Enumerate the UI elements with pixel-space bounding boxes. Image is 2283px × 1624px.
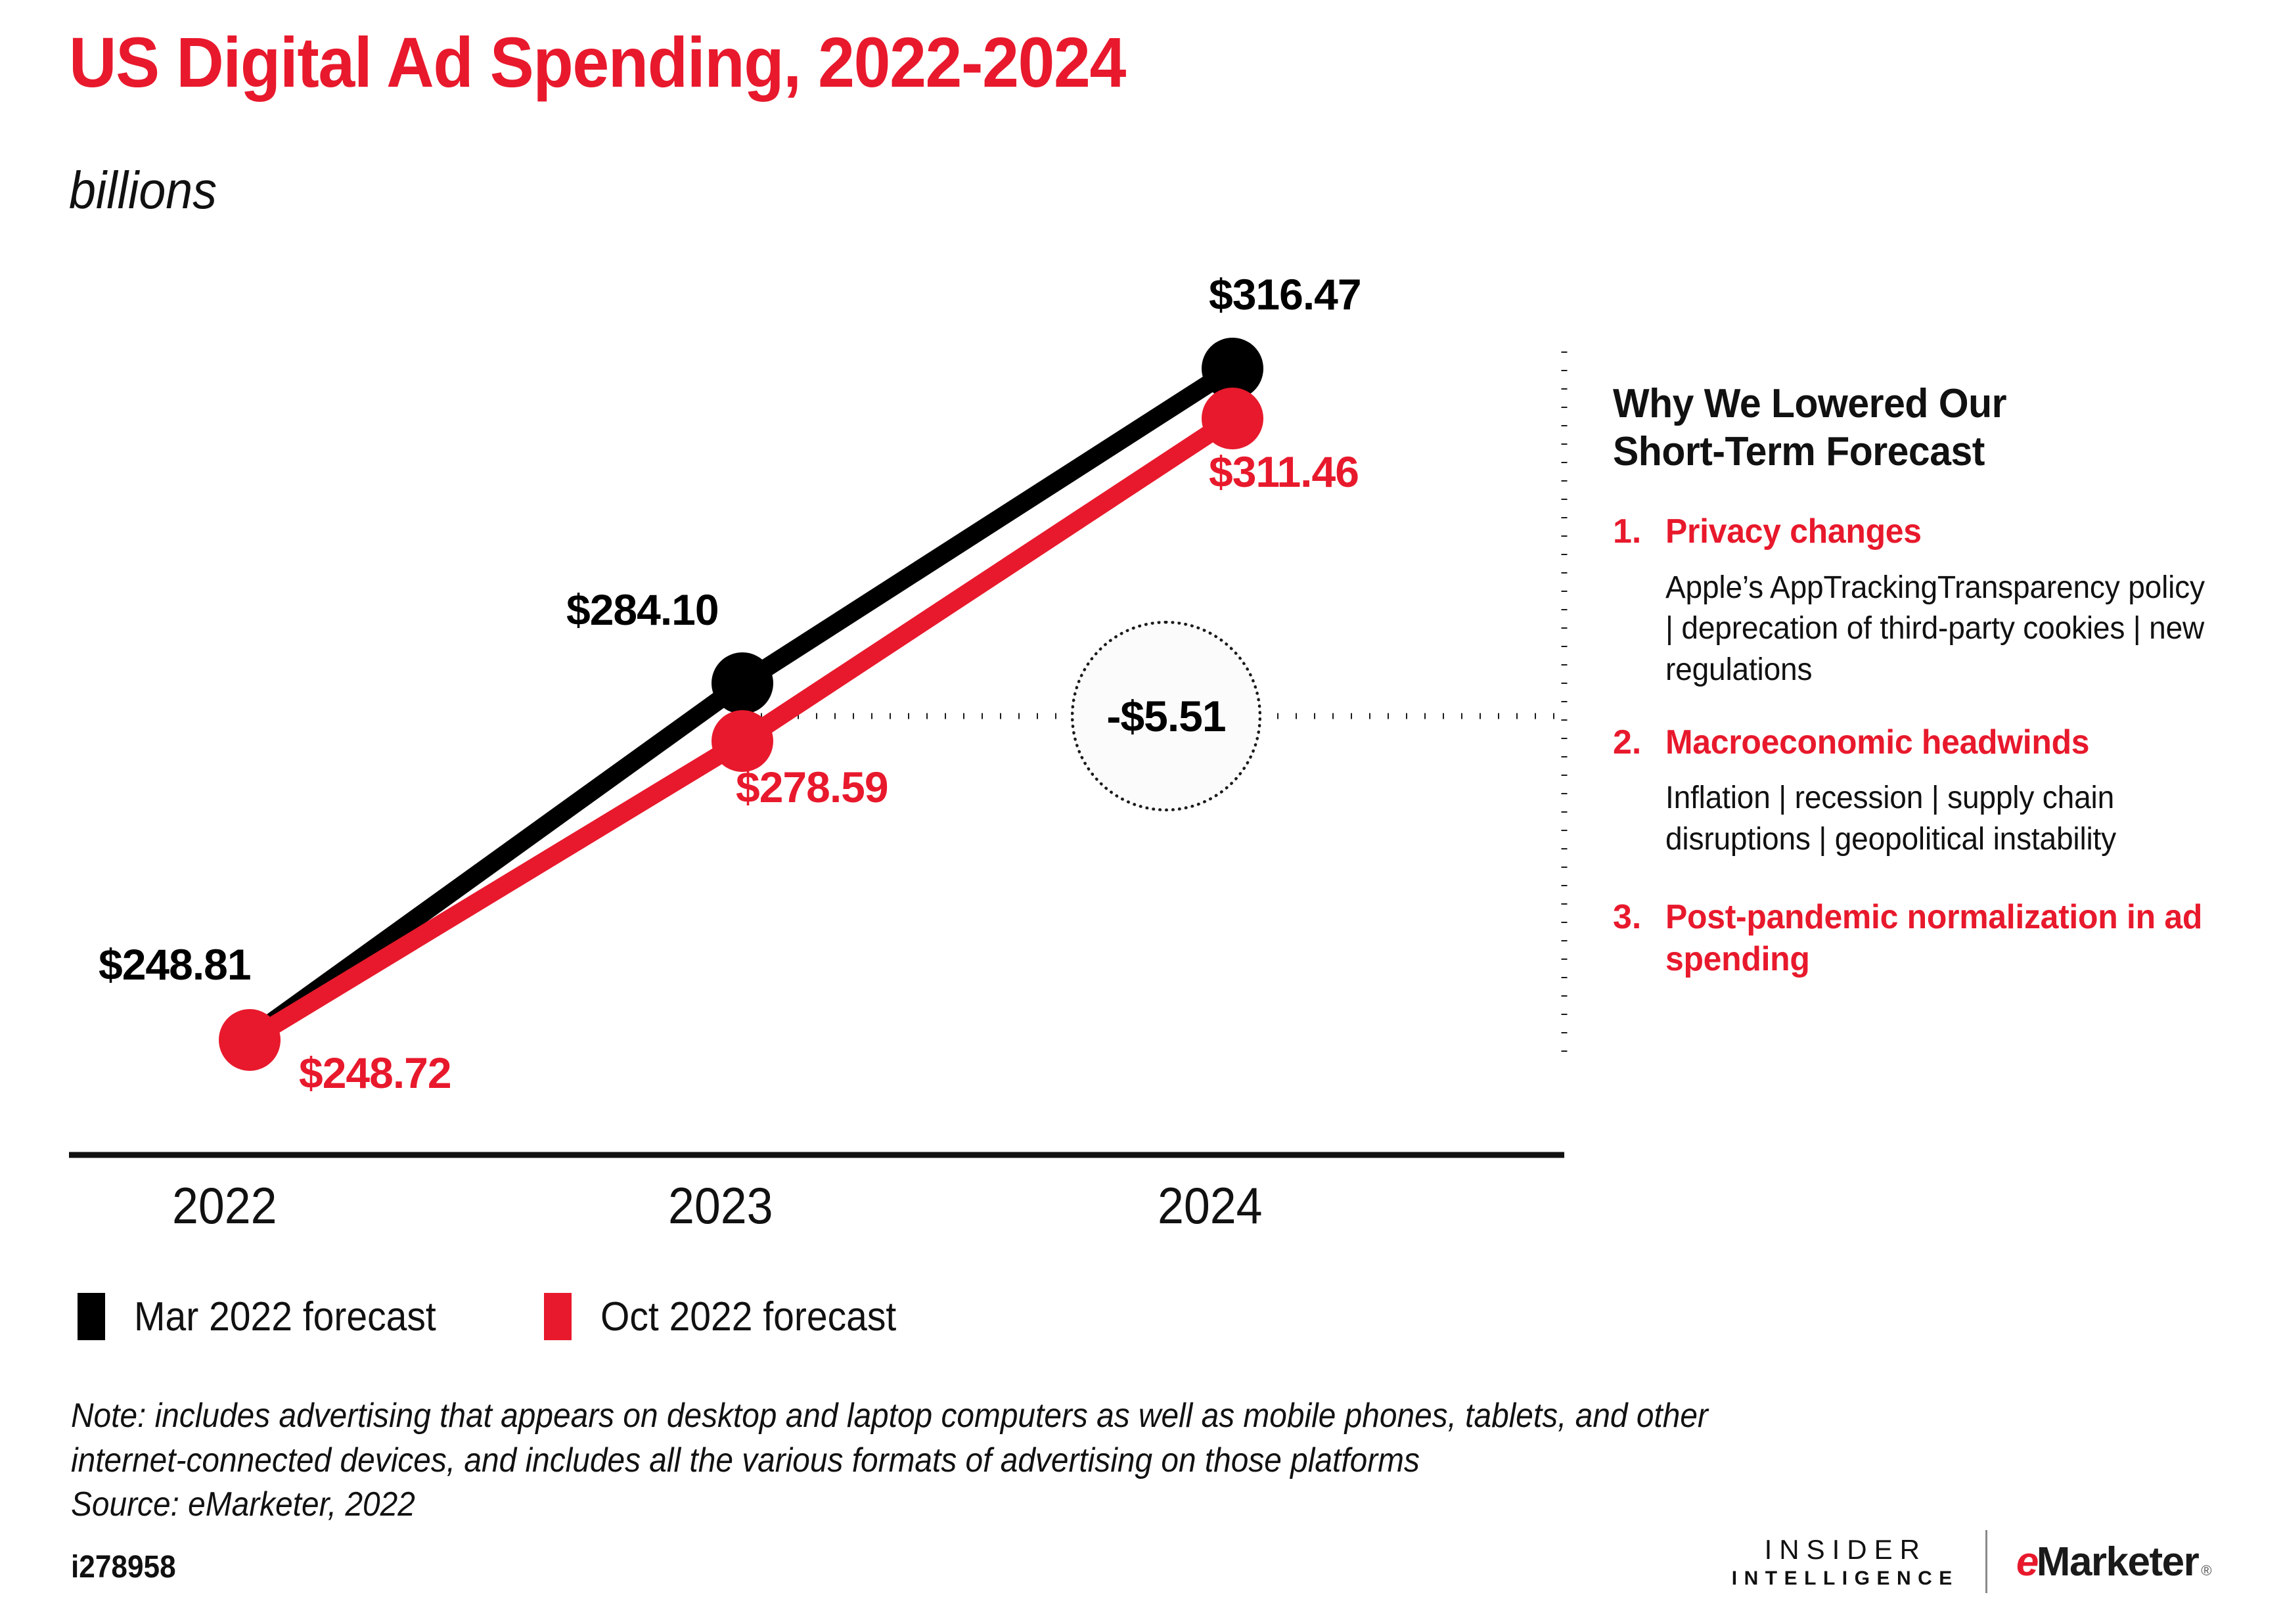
side-panel-heading-line2: Short-Term Forecast [1613,428,2200,476]
side-panel-item-2-body: Inflation | recession | supply chain dis… [1665,778,2208,860]
forecast-gap-annotation-bubble: -$5.51 [1071,621,1261,811]
legend-swatch-red-icon [544,1293,572,1340]
legend-item-oct-2022[interactable]: Oct 2022 forecast [544,1293,922,1340]
side-panel-item-3: 3. Post-pandemic normalization in ad spe… [1613,897,2230,980]
footnote-block: Note: includes advertising that appears … [71,1394,1945,1527]
data-point-oct-2022-2022 [219,1009,281,1071]
intelligence-wordmark: INTELLIGENCE [1725,1566,1959,1591]
side-panel-item-3-title: Post-pandemic normalization in ad spendi… [1665,897,2208,980]
registered-trademark-icon: ® [2201,1562,2211,1579]
emarketer-wordmark: Marketer [2037,1539,2198,1585]
value-label-mar-2022-2022: $248.81 [99,939,251,989]
source-line: Source: eMarketer, 2022 [71,1483,1945,1527]
side-panel-item-2: 2. Macroeconomic headwinds Inflation | r… [1613,722,2230,860]
line-chart-svg [0,0,1590,1183]
side-panel-heading-line1: Why We Lowered Our [1613,380,2200,428]
footnote-line-2: internet-connected devices, and includes… [71,1439,1945,1483]
x-tick-label-2023: 2023 [668,1176,773,1236]
footnote-line-1: Note: includes advertising that appears … [71,1394,1945,1439]
data-point-mar-2022-2023 [712,652,773,714]
legend-label-mar-2022: Mar 2022 forecast [134,1294,436,1340]
side-panel-item-1-body: Apple’s AppTrackingTransparency policy |… [1665,568,2208,690]
side-panel-item-1: 1. Privacy changes Apple’s AppTrackingTr… [1613,511,2230,690]
x-tick-label-2022: 2022 [172,1176,277,1236]
insider-wordmark: INSIDER [1757,1533,1927,1566]
side-panel-item-2-number: 2. [1613,722,1665,763]
forecast-gap-value: -$5.51 [1106,691,1225,741]
emarketer-e-mark-icon: e [2016,1539,2038,1585]
side-panel-item-3-head: 3. Post-pandemic normalization in ad spe… [1613,897,2230,980]
insider-intelligence-logo: INSIDER INTELLIGENCE [1725,1533,1959,1591]
side-panel-item-1-head: 1. Privacy changes [1613,511,2230,553]
chart-legend: Mar 2022 forecast Oct 2022 forecast [78,1293,1003,1340]
side-panel-heading: Why We Lowered Our Short-Term Forecast [1613,380,2200,476]
emarketer-logo: eMarketer® [2016,1539,2211,1585]
value-label-oct-2022-2022: $248.72 [299,1048,451,1098]
side-panel-item-3-number: 3. [1613,897,1665,938]
side-panel-item-2-title: Macroeconomic headwinds [1665,722,2089,763]
brand-divider [1985,1530,1987,1593]
figure-id: i278958 [71,1549,176,1585]
side-panel: Why We Lowered Our Short-Term Forecast 1… [1613,380,2230,1012]
legend-item-mar-2022[interactable]: Mar 2022 forecast [78,1293,463,1340]
value-label-oct-2022-2024: $311.46 [1209,447,1359,497]
chart-plot-area: $248.81 $248.72 $284.10 $278.59 $316.47 … [0,0,1590,1183]
side-panel-item-1-title: Privacy changes [1665,511,1922,553]
legend-swatch-black-icon [78,1293,105,1340]
value-label-mar-2022-2023: $284.10 [566,585,719,635]
side-panel-item-2-head: 2. Macroeconomic headwinds [1613,722,2230,763]
data-point-oct-2022-2024 [1202,388,1263,449]
legend-label-oct-2022: Oct 2022 forecast [600,1294,896,1340]
value-label-mar-2022-2024: $316.47 [1209,269,1361,319]
value-label-oct-2022-2023: $278.59 [736,762,888,812]
x-tick-label-2024: 2024 [1158,1176,1263,1236]
brand-lockup: INSIDER INTELLIGENCE eMarketer® [1725,1525,2211,1598]
side-panel-item-1-number: 1. [1613,511,1665,553]
